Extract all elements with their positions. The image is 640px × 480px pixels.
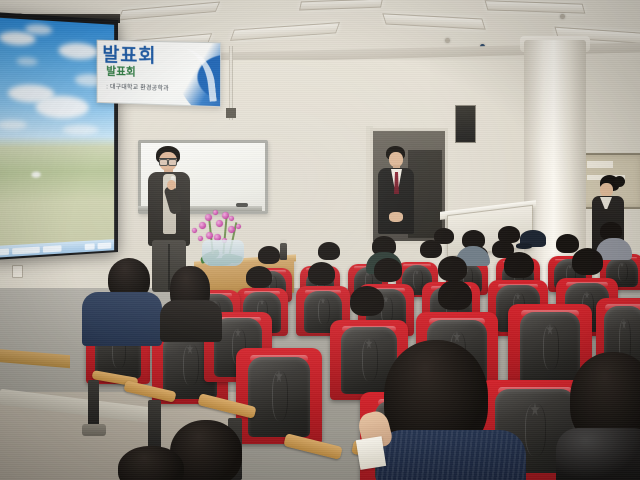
board-note [587, 161, 613, 168]
water-bottle [280, 243, 287, 260]
held-paper [356, 436, 386, 470]
sprinkler-head [560, 14, 565, 19]
seat-post [88, 380, 99, 428]
banner-title: 발표회 [102, 46, 156, 66]
auditorium-presentation-photo: 발표회 발표회 : 대구대학교 환경공학과 [0, 0, 640, 480]
wall-speaker-icon [455, 105, 476, 143]
ceiling-light [382, 13, 486, 29]
power-outlet-icon [12, 265, 23, 278]
standing-woman-hair-bun [614, 176, 625, 187]
standing-man-hands [389, 212, 403, 222]
ceiling-light [230, 22, 340, 41]
ceiling-light [485, 0, 586, 14]
whiteboard-marker [236, 203, 248, 207]
ceiling-light [118, 2, 220, 21]
presenter-hand [167, 180, 176, 190]
ceiling-light [299, 0, 383, 10]
standing-woman-face [600, 183, 613, 197]
pole-bracket [226, 108, 236, 118]
banner-organization: : 대구대학교 환경공학과 [106, 84, 169, 92]
orchid-pot [202, 240, 244, 266]
seat [236, 348, 322, 444]
seat-base [82, 424, 106, 436]
sprinkler-head [445, 38, 450, 43]
banner-subtitle: 발표회 [106, 67, 136, 79]
eyeglasses-icon [159, 158, 177, 164]
event-banner: 발표회 발표회 : 대구대학교 환경공학과 [97, 40, 221, 108]
